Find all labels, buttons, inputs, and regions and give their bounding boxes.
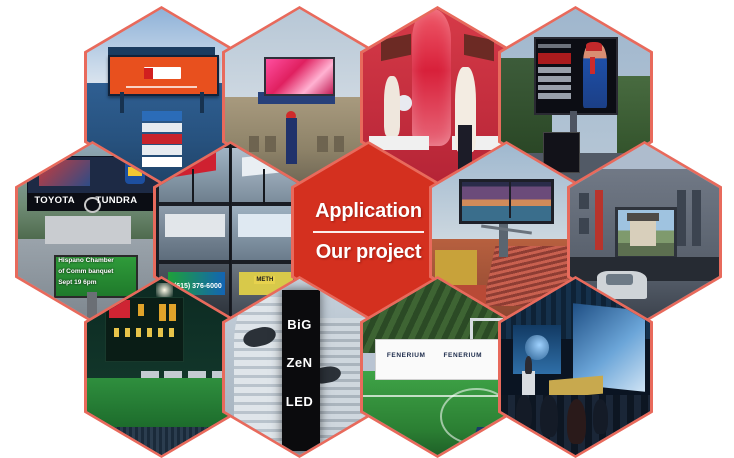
fenerium-board-text-2: FENERIUM bbox=[443, 353, 482, 360]
zen-sign-line-1: BiG bbox=[225, 318, 374, 331]
hispano-line-3: Sept 19 6pm bbox=[58, 280, 96, 287]
hexagon-collage: TOYOTA TUNDRA Hispano Chamber of Comm ba… bbox=[0, 0, 734, 412]
zen-sign-line-3: LED bbox=[225, 395, 374, 408]
tundra-sign-text: TUNDRA bbox=[95, 196, 137, 206]
fenerium-board-text-1: FENERIUM bbox=[387, 353, 426, 360]
center-tile-line-2: Our project bbox=[316, 242, 422, 263]
zen-sign-line-2: ZeN bbox=[225, 356, 374, 369]
hispano-line-1: Hispano Chamber bbox=[58, 258, 114, 265]
hispano-line-2: of Comm banquet bbox=[58, 269, 113, 276]
center-tile-divider bbox=[313, 231, 423, 233]
toyota-sign-text: TOYOTA bbox=[34, 196, 75, 206]
center-tile-line-1: Application bbox=[315, 201, 422, 222]
meth-billboard-text: METH bbox=[254, 276, 275, 284]
